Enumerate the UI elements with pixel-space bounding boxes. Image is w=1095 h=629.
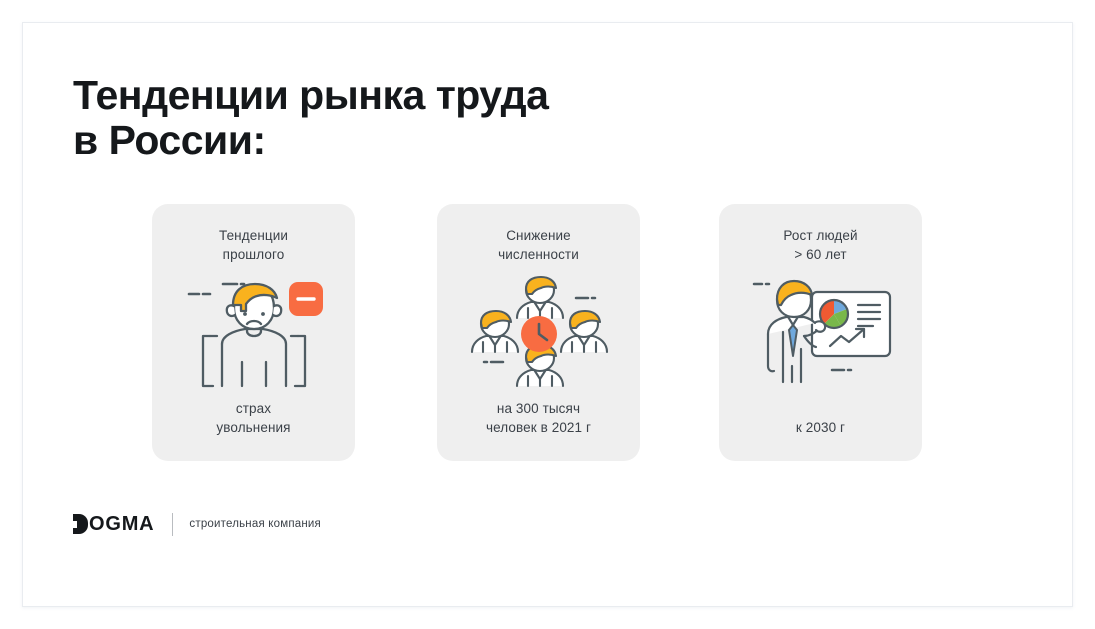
card-growth-over-60[interactable]: Рост людей > 60 лет: [719, 204, 922, 461]
logo-text: OGMA: [89, 513, 154, 536]
card-trends-of-the-past[interactable]: Тенденции прошлого: [152, 204, 355, 461]
slide-canvas: Тенденции рынка труда в России: Тенденци…: [22, 22, 1073, 607]
card-title: Тенденции прошлого: [162, 226, 345, 264]
page-title: Тенденции рынка труда в России:: [73, 73, 753, 163]
logo-tagline: строительная компания: [189, 518, 321, 530]
cards-row: Тенденции прошлого: [152, 204, 922, 461]
card-population-decline[interactable]: Снижение численности: [437, 204, 640, 461]
page-title-line-2: в России:: [73, 118, 753, 163]
card-title: Снижение численности: [447, 226, 630, 264]
card-caption: страх увольнения: [160, 399, 347, 437]
card-title: Рост людей > 60 лет: [729, 226, 912, 264]
card-caption: к 2030 г: [727, 418, 914, 437]
footer-logo: OGMA строительная компания: [73, 511, 321, 537]
presenter-with-chart-board-icon: [719, 274, 922, 392]
page-title-line-1: Тенденции рынка труда: [73, 73, 753, 118]
worried-person-with-minus-icon: [152, 274, 355, 392]
people-around-clock-icon: [437, 274, 640, 392]
logo-d-glyph: [73, 514, 88, 534]
logo-dogma: OGMA: [73, 513, 154, 536]
logo-divider: [172, 513, 173, 536]
card-caption: на 300 тысяч человек в 2021 г: [445, 399, 632, 437]
